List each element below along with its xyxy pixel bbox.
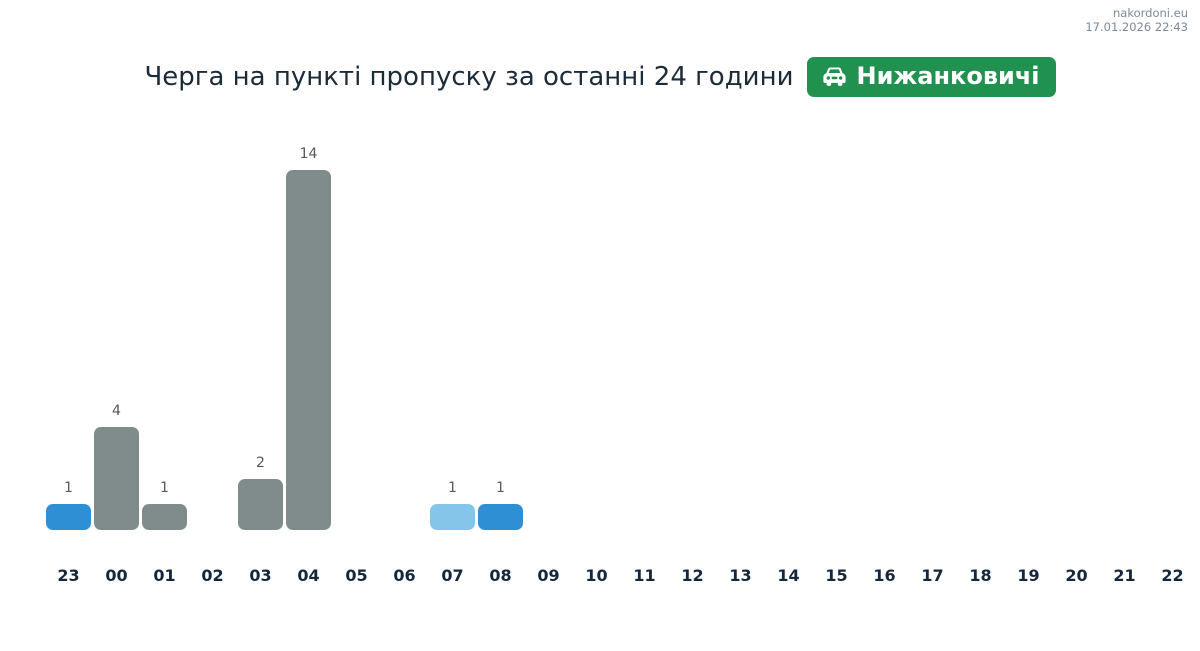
bar-04[interactable] [286,170,331,530]
x-tick-06: 06 [382,568,427,584]
x-tick-10: 10 [574,568,619,584]
bar-03[interactable] [238,479,283,530]
x-tick-22: 22 [1150,568,1195,584]
bar-value-label: 4 [94,404,139,418]
bar-value-label: 1 [142,481,187,495]
bar-01[interactable] [142,504,187,530]
x-tick-13: 13 [718,568,763,584]
x-tick-11: 11 [622,568,667,584]
bar-value-label: 1 [46,481,91,495]
x-tick-08: 08 [478,568,523,584]
bar-slot: 14 [286,120,331,530]
bar-slot: 2 [238,120,283,530]
x-tick-04: 04 [286,568,331,584]
bar-value-label: 14 [286,147,331,161]
bar-07[interactable] [430,504,475,530]
bar-slot: 1 [478,120,523,530]
x-tick-23: 23 [46,568,91,584]
x-tick-05: 05 [334,568,379,584]
bar-value-label: 1 [478,481,523,495]
x-tick-02: 02 [190,568,235,584]
queue-bar-chart: 14121411 2300010203040506070809101112131… [0,0,1200,651]
x-tick-20: 20 [1054,568,1099,584]
bar-slot: 4 [94,120,139,530]
x-tick-09: 09 [526,568,571,584]
x-tick-21: 21 [1102,568,1147,584]
bar-value-label: 1 [430,481,475,495]
plot-area: 14121411 [46,120,1162,530]
x-tick-14: 14 [766,568,811,584]
x-tick-17: 17 [910,568,955,584]
x-tick-01: 01 [142,568,187,584]
bar-slot: 1 [46,120,91,530]
bar-23[interactable] [46,504,91,530]
bar-slot: 1 [430,120,475,530]
x-tick-15: 15 [814,568,859,584]
x-tick-18: 18 [958,568,1003,584]
x-tick-07: 07 [430,568,475,584]
x-tick-00: 00 [94,568,139,584]
x-tick-19: 19 [1006,568,1051,584]
bar-slot: 1 [142,120,187,530]
x-tick-12: 12 [670,568,715,584]
bar-00[interactable] [94,427,139,530]
bar-value-label: 2 [238,456,283,470]
x-tick-16: 16 [862,568,907,584]
bar-08[interactable] [478,504,523,530]
x-tick-03: 03 [238,568,283,584]
